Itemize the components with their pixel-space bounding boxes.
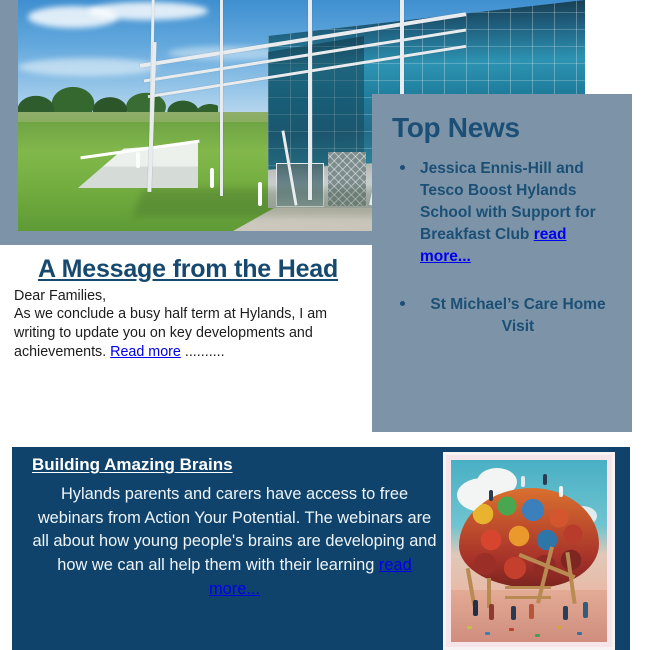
- illustration-person: [489, 604, 494, 620]
- canopy-beam: [140, 12, 467, 68]
- message-title: A Message from the Head: [14, 255, 362, 285]
- illustration-person: [563, 606, 568, 620]
- illustration-debris: [509, 628, 514, 631]
- brain-illustration-frame: [443, 452, 615, 650]
- top-news-panel: Top News Jessica Ennis-Hill and Tesco Bo…: [372, 94, 632, 432]
- brains-title: Building Amazing Brains: [32, 455, 447, 475]
- illustration-person: [511, 606, 516, 620]
- brains-paragraph: Hylands parents and carers have access t…: [32, 485, 436, 574]
- bullet-icon: [400, 165, 405, 170]
- brains-body: Hylands parents and carers have access t…: [30, 483, 439, 601]
- canopy-brace: [281, 130, 297, 205]
- photo-cloud: [18, 58, 158, 76]
- brains-text-column: Building Amazing Brains Hylands parents …: [22, 455, 447, 601]
- list-item[interactable]: Jessica Ennis-Hill and Tesco Boost Hylan…: [390, 158, 616, 268]
- message-body: Dear Families, As we conclude a busy hal…: [14, 287, 362, 362]
- illustration-person: [521, 476, 525, 487]
- news-item-text: St Michael’s Care Home Visit: [430, 296, 605, 335]
- photo-bollard: [136, 152, 140, 168]
- illustration-scaffold: [505, 596, 551, 599]
- illustration-person: [559, 486, 563, 497]
- top-news-title: Top News: [392, 112, 616, 144]
- message-trailing-dots: ..........: [181, 344, 225, 360]
- message-read-more-link[interactable]: Read more: [110, 344, 181, 360]
- message-from-head-card: A Message from the Head Dear Families, A…: [0, 245, 368, 435]
- illustration-person: [489, 490, 493, 501]
- illustration-debris: [535, 634, 540, 637]
- illustration-debris: [557, 626, 562, 629]
- list-item[interactable]: St Michael’s Care Home Visit: [390, 294, 616, 338]
- news-item-text: Jessica Ennis-Hill and Tesco Boost Hylan…: [420, 160, 596, 243]
- illustration-person: [529, 604, 534, 619]
- illustration-person: [473, 600, 478, 616]
- illustration-debris: [577, 632, 582, 635]
- illustration-person: [583, 602, 588, 618]
- canopy-column: [220, 0, 223, 196]
- canopy-column: [308, 0, 312, 200]
- top-news-list: Jessica Ennis-Hill and Tesco Boost Hylan…: [390, 158, 616, 338]
- bullet-icon: [400, 301, 405, 306]
- illustration-debris: [485, 632, 490, 635]
- message-salutation: Dear Families,: [14, 288, 106, 304]
- photo-bollard: [258, 182, 262, 206]
- colorful-brain-construction-illustration: [451, 460, 607, 642]
- illustration-person: [543, 474, 547, 485]
- photo-bollard: [210, 168, 214, 188]
- illustration-scaffold: [505, 586, 551, 589]
- illustration-debris: [467, 626, 472, 629]
